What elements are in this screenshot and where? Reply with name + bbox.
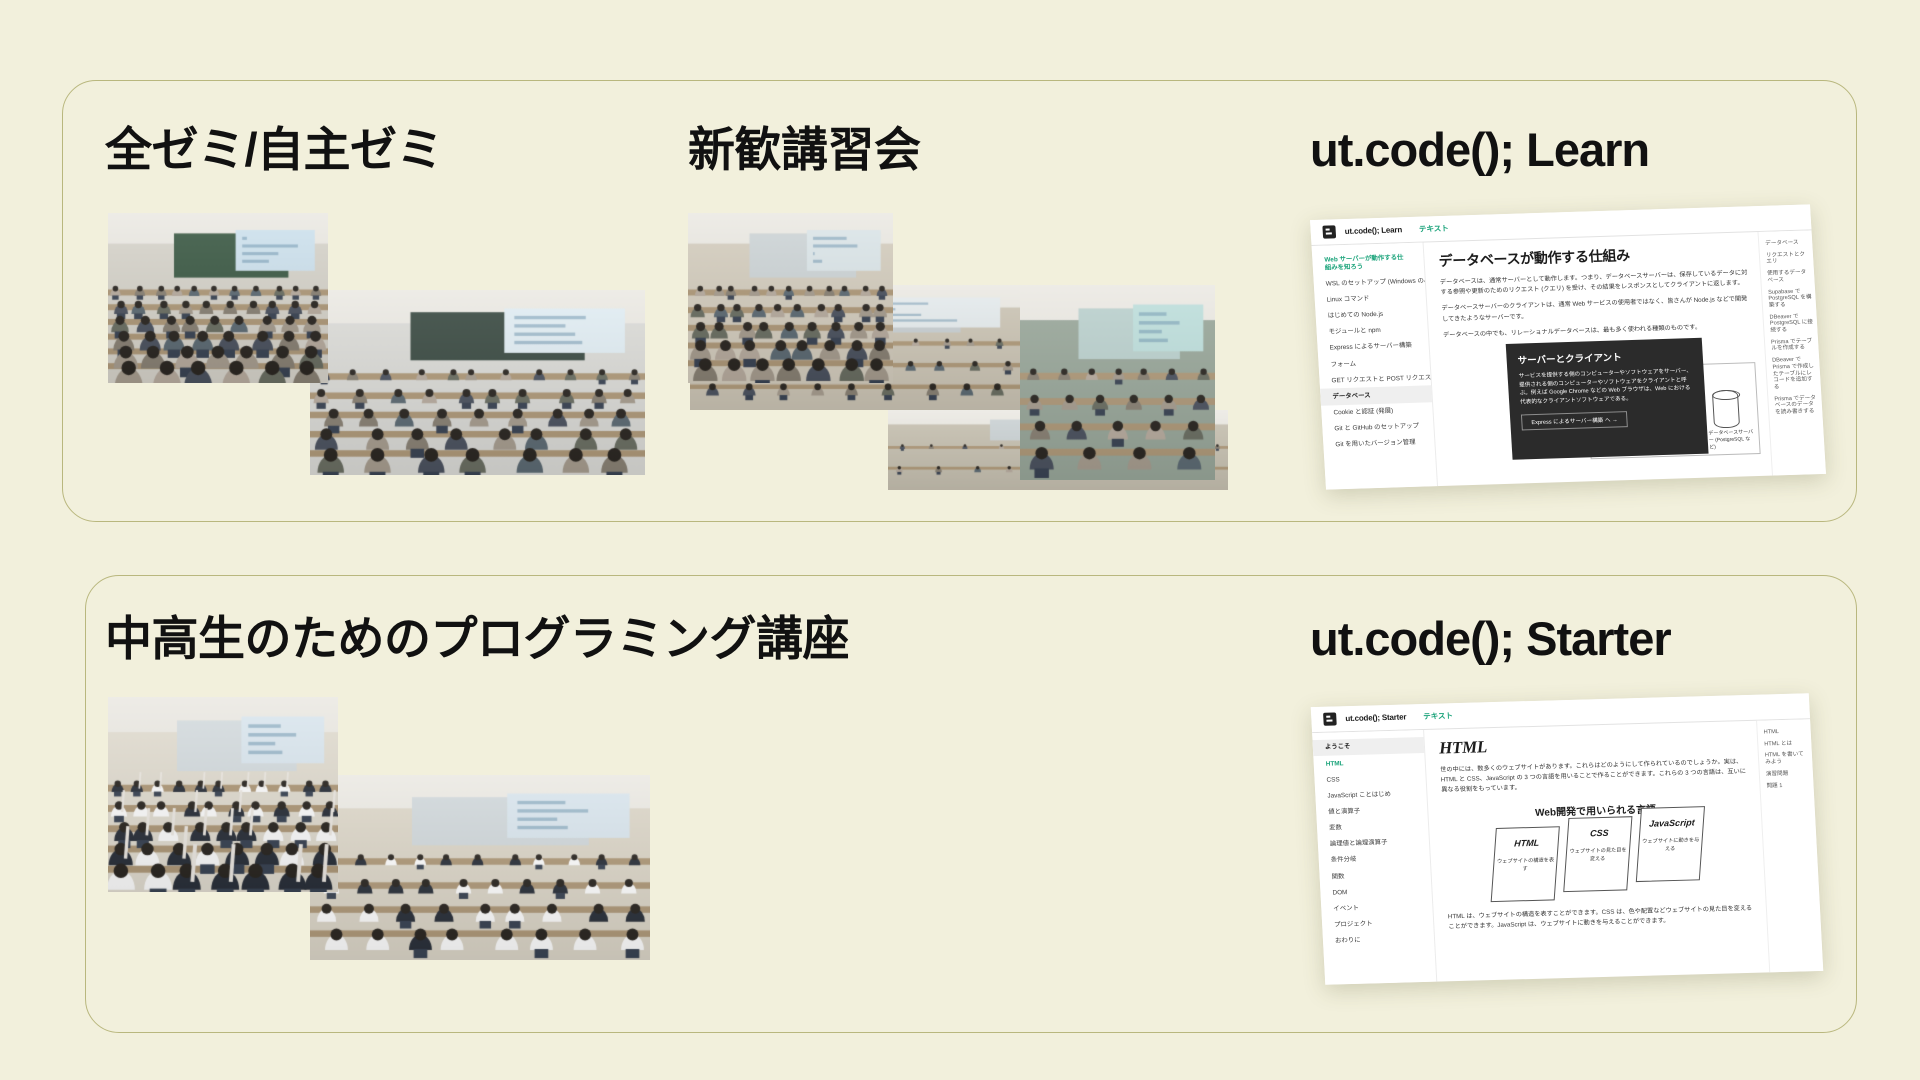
starter-toc-item[interactable]: HTML を書いてみよう xyxy=(1765,752,1809,767)
tooltip-title: サーバーとクライアント xyxy=(1517,347,1692,366)
section-title-ut-code-learn: ut.code(); Learn xyxy=(1310,126,1649,173)
lang-box-javascript: JavaScript ウェブサイトに動きを与える xyxy=(1636,806,1705,882)
lang-desc: ウェブサイトの見た目を変える xyxy=(1566,847,1629,864)
starter-main-content: HTML 世の中には、数多くのウェブサイトがあります。これらはどのようにして作ら… xyxy=(1424,721,1769,982)
learn-toc-item[interactable]: データベース xyxy=(1765,239,1808,247)
ut-code-logo-icon xyxy=(1323,712,1337,725)
learn-paragraph: データベースサーバーのクライアントは、通常 Web サービスの使用者ではなく、皆… xyxy=(1441,295,1750,325)
screenshot-ut-code-learn: ut.code(); Learn テキスト Web サーバーが動作する仕組みを知… xyxy=(1310,204,1826,489)
lang-name: CSS xyxy=(1590,828,1609,839)
learn-page-heading: データベースが動作する仕組み xyxy=(1438,241,1747,271)
learn-paragraph: データベースは、通常サーバーとして動作します。つまり、データベースサーバーは、保… xyxy=(1440,268,1749,298)
lang-name: HTML xyxy=(1514,837,1540,848)
photo-highschool-class xyxy=(310,775,650,960)
learn-nav-text: テキスト xyxy=(1419,223,1449,235)
learn-toc-item[interactable]: リクエストとクエリ xyxy=(1766,251,1810,266)
starter-brand: ut.code(); Starter xyxy=(1345,712,1406,723)
tooltip-next-button[interactable]: Express によるサーバー構築 へ → xyxy=(1521,411,1628,430)
learn-main-content: データベースが動作する仕組み データベースは、通常サーバーとして動作します。つま… xyxy=(1424,232,1772,486)
photo-workshop-room xyxy=(688,213,893,383)
lang-desc: ウェブサイトの構造を表す xyxy=(1494,857,1557,874)
starter-sidebar-item[interactable]: おわりに xyxy=(1323,930,1435,949)
section-title-chukosei: 中高生のためのプログラミング講座 xyxy=(105,615,849,662)
photo-lab-presentation xyxy=(1020,285,1215,480)
learn-toc-item[interactable]: DBeaver で PostgreSQL に接続する xyxy=(1769,313,1813,334)
diagram-label: データベースサーバー (PostgreSQL など) xyxy=(1708,428,1755,450)
lang-desc: ウェブサイトに動きを与える xyxy=(1639,837,1702,854)
starter-toc-item[interactable]: HTML xyxy=(1764,728,1807,736)
learn-toc-item[interactable]: Supabase で PostgreSQL を構築する xyxy=(1768,288,1812,309)
learn-sidebar: Web サーバーが動作する仕組みを知ろう WSL のセットアップ (Window… xyxy=(1312,243,1438,490)
learn-sidebar-item[interactable]: Git を用いたバージョン管理 xyxy=(1323,434,1435,454)
learn-toc-item[interactable]: DBeaver で Prisma で作成したテーブルにレコードを追加する xyxy=(1772,356,1817,391)
learn-brand: ut.code(); Learn xyxy=(1344,225,1402,236)
section-title-zemi: 全ゼミ/自主ゼミ xyxy=(105,126,443,173)
starter-toc-item[interactable]: 演習問題 xyxy=(1766,770,1809,778)
photo-lecture-hall-wide xyxy=(310,290,645,475)
learn-toc-item[interactable]: Prisma でデータベースのデータを読み書きする xyxy=(1774,395,1818,416)
learn-toc-item[interactable]: 使用するデータベース xyxy=(1767,270,1811,285)
lang-diagram: HTML ウェブサイトの構造を表す CSS ウェブサイトの見た目を変える Jav… xyxy=(1443,821,1753,903)
learn-tooltip-card: サーバーとクライアント サービスを提供する側のコンピューターやソフトウェアをサー… xyxy=(1506,338,1709,460)
section-title-ut-code-starter: ut.code(); Starter xyxy=(1310,615,1671,662)
section-title-shinkan: 新歓講習会 xyxy=(688,126,921,173)
learn-paragraph: データベースの中でも、リレーショナルデータベースは、最も多く使われる種類のもので… xyxy=(1443,321,1752,341)
screenshot-ut-code-starter: ut.code(); Starter テキスト ようこそ HTML CSS Ja… xyxy=(1311,693,1824,985)
database-cylinder-icon xyxy=(1712,390,1740,429)
learn-sidebar-item[interactable]: Web サーバーが動作する仕組みを知ろう xyxy=(1312,250,1424,277)
photo-highschool-hands-up xyxy=(108,697,338,892)
ut-code-logo-icon xyxy=(1322,225,1336,238)
starter-paragraph: HTML は、ウェブサイトの構造を表すことができます。CSS は、色や配置などウ… xyxy=(1448,903,1755,932)
lang-box-css: CSS ウェブサイトの見た目を変える xyxy=(1563,816,1632,892)
starter-nav-text: テキスト xyxy=(1423,710,1453,722)
learn-toc-item[interactable]: Prisma でテーブルを作成する xyxy=(1771,338,1815,353)
starter-paragraph: 世の中には、数多くのウェブサイトがあります。これらはどのようにして作られているの… xyxy=(1440,757,1748,796)
starter-sidebar: ようこそ HTML CSS JavaScript ことはじめ 値と演算子 変数 … xyxy=(1312,730,1437,985)
starter-toc-item[interactable]: HTML とは xyxy=(1764,740,1807,748)
lang-name: JavaScript xyxy=(1649,817,1695,828)
lang-box-html: HTML ウェブサイトの構造を表す xyxy=(1491,826,1560,902)
tooltip-body: サービスを提供する側のコンピューターやソフトウェアをサーバー、提供される側のコン… xyxy=(1518,367,1694,407)
starter-page-heading: HTML xyxy=(1439,730,1746,759)
photo-lecture-hall-laptops xyxy=(108,213,328,383)
starter-toc-item[interactable]: 問題 1 xyxy=(1766,782,1809,790)
